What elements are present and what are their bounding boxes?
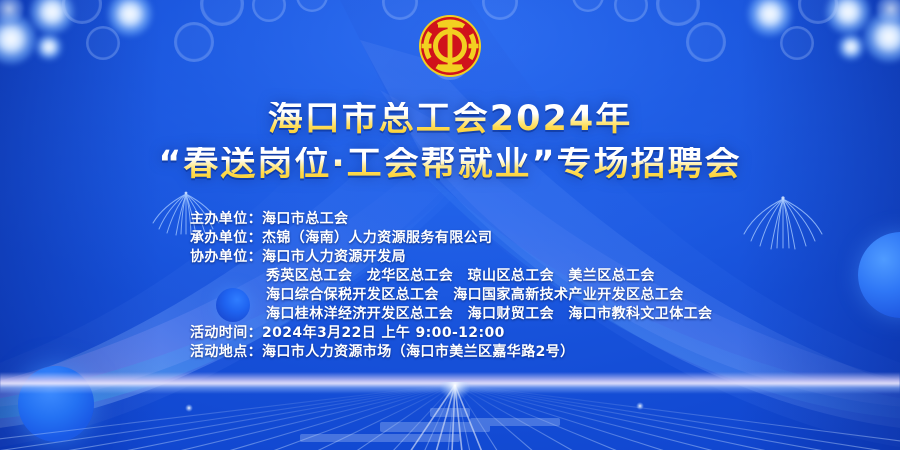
horizon-perspective-lines	[0, 372, 900, 450]
info-value: 海口市总工会	[262, 211, 348, 227]
info-row-organizer: 主办单位：海口市总工会	[190, 210, 710, 229]
info-value: 杰锦（海南）人力资源服务有限公司	[262, 230, 492, 246]
title-line-1: 海口市总工会2024年	[0, 102, 900, 137]
info-label: 活动时间：	[190, 325, 262, 341]
poster-info-inner: 主办单位：海口市总工会 承办单位：杰锦（海南）人力资源服务有限公司 协办单位：海…	[190, 210, 710, 362]
info-row-coorganizer-4: 海口桂林洋经济开发区总工会 海口财贸工会 海口市教科文卫体工会	[190, 305, 710, 324]
info-label: 协办单位：	[190, 249, 262, 265]
info-label: 活动地点：	[190, 344, 262, 360]
info-row-coorganizer-2: 秀英区总工会 龙华区总工会 琼山区总工会 美兰区总工会	[190, 267, 710, 286]
info-row-coorganizer-3: 海口综合保税开发区总工会 海口国家高新技术产业开发区总工会	[190, 286, 710, 305]
info-row-coorganizer: 协办单位：海口市人力资源开发局	[190, 248, 710, 267]
info-label: 承办单位：	[190, 230, 262, 246]
info-row-event-time: 活动时间：2024年3月22日 上午 9:00-12:00	[190, 324, 710, 343]
all-china-federation-of-trade-unions-emblem	[418, 14, 482, 78]
info-row-undertaker: 承办单位：杰锦（海南）人力资源服务有限公司	[190, 229, 710, 248]
poster-info-list: 主办单位：海口市总工会 承办单位：杰锦（海南）人力资源服务有限公司 协办单位：海…	[0, 210, 900, 362]
info-value: 2024年3月22日 上午 9:00-12:00	[262, 325, 505, 341]
info-value: 海口综合保税开发区总工会 海口国家高新技术产业开发区总工会	[266, 287, 684, 303]
poster-title: 海口市总工会2024年 “春送岗位·工会帮就业”专场招聘会	[0, 102, 900, 182]
title-line-2: “春送岗位·工会帮就业”专场招聘会	[0, 147, 900, 182]
info-value: 海口市人力资源开发局	[262, 249, 406, 265]
info-value: 海口桂林洋经济开发区总工会 海口财贸工会 海口市教科文卫体工会	[266, 306, 712, 322]
info-value: 海口市人力资源市场（海口市美兰区嘉华路2号）	[262, 344, 575, 360]
info-row-event-location: 活动地点：海口市人力资源市场（海口市美兰区嘉华路2号）	[190, 343, 710, 362]
info-value: 秀英区总工会 龙华区总工会 琼山区总工会 美兰区总工会	[266, 268, 655, 284]
info-label: 主办单位：	[190, 211, 262, 227]
event-poster: 海口市总工会2024年 “春送岗位·工会帮就业”专场招聘会 主办单位：海口市总工…	[0, 0, 900, 450]
